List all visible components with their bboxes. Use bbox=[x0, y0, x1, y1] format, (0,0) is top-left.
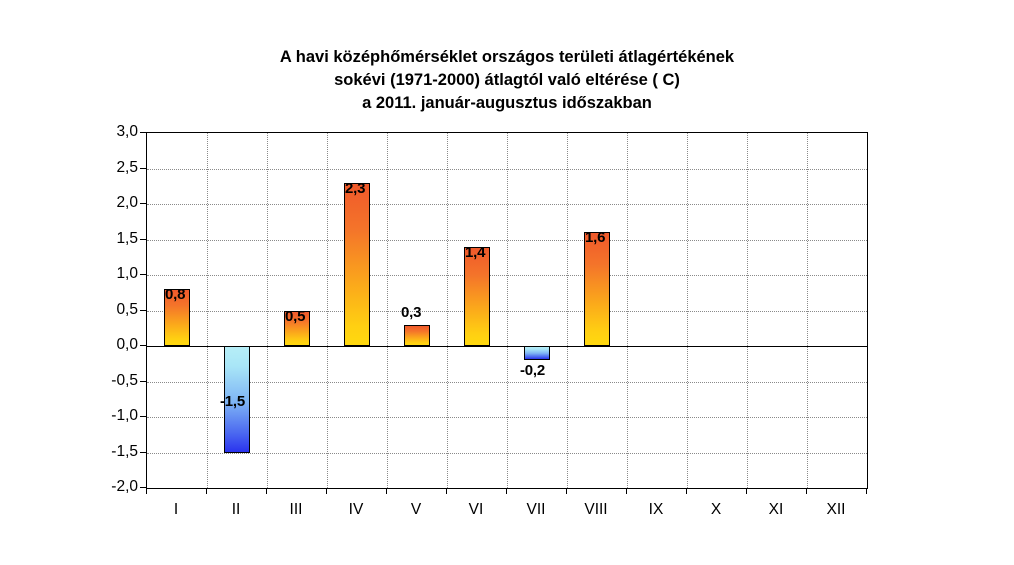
y-axis-tick-label: -1,0 bbox=[84, 408, 138, 424]
y-axis-tick-label: -0,5 bbox=[84, 373, 138, 389]
gridline-vertical bbox=[447, 133, 448, 488]
y-axis-tick-label: -1,5 bbox=[84, 444, 138, 460]
x-axis-tick-label: VIII bbox=[566, 500, 626, 520]
bar-value-label: -1,5 bbox=[220, 393, 245, 410]
gridline-vertical bbox=[327, 133, 328, 488]
y-axis-tick-label: 3,0 bbox=[84, 124, 138, 140]
chart-title-line-2: sokévi (1971-2000) átlagtól való eltérés… bbox=[0, 69, 1014, 92]
y-axis-tick-label: 2,5 bbox=[84, 160, 138, 176]
plot-area: 0,8-1,50,52,30,31,4-0,21,6 bbox=[146, 132, 868, 489]
bar[interactable] bbox=[404, 325, 430, 346]
bar[interactable] bbox=[344, 183, 370, 346]
gridline-vertical bbox=[747, 133, 748, 488]
x-axis-tick-label: V bbox=[386, 500, 446, 520]
x-axis-tick-mark bbox=[326, 488, 327, 494]
chart-title: A havi középhőmérséklet országos terület… bbox=[0, 46, 1014, 115]
y-axis-tick-label: 1,5 bbox=[84, 231, 138, 247]
gridline-vertical bbox=[567, 133, 568, 488]
bar-value-label: 2,3 bbox=[345, 180, 365, 197]
gridline-vertical bbox=[387, 133, 388, 488]
x-axis-tick-label: III bbox=[266, 500, 326, 520]
x-axis-tick-mark bbox=[626, 488, 627, 494]
bar-value-label: 0,3 bbox=[401, 304, 421, 321]
zero-baseline bbox=[147, 346, 867, 347]
y-axis-tick-label: 0,5 bbox=[84, 302, 138, 318]
gridline-vertical bbox=[267, 133, 268, 488]
x-axis-tick-label: VI bbox=[446, 500, 506, 520]
x-axis-tick-mark bbox=[386, 488, 387, 494]
bar-value-label: 1,4 bbox=[465, 244, 485, 261]
x-axis-tick-mark bbox=[206, 488, 207, 494]
gridline-vertical bbox=[207, 133, 208, 488]
bar[interactable] bbox=[524, 346, 550, 360]
y-axis-tick-labels: 3,02,52,01,51,00,50,0-0,5-1,0-1,5-2,0 bbox=[80, 0, 138, 565]
x-axis-tick-label: IV bbox=[326, 500, 386, 520]
y-axis-tick-label: -2,0 bbox=[84, 479, 138, 495]
x-axis-tick-label: I bbox=[146, 500, 206, 520]
gridline-vertical bbox=[507, 133, 508, 488]
gridline-vertical bbox=[687, 133, 688, 488]
bar-value-label: 0,8 bbox=[165, 286, 185, 303]
x-axis-tick-mark bbox=[866, 488, 867, 494]
y-axis-tick-label: 2,0 bbox=[84, 195, 138, 211]
x-axis-tick-label: XI bbox=[746, 500, 806, 520]
bar[interactable] bbox=[584, 232, 610, 346]
x-axis-tick-mark bbox=[266, 488, 267, 494]
x-axis-tick-label: II bbox=[206, 500, 266, 520]
bar-value-label: 1,6 bbox=[585, 229, 605, 246]
x-axis-tick-mark bbox=[746, 488, 747, 494]
y-axis-tick-label: 1,0 bbox=[84, 266, 138, 282]
chart-title-line-1: A havi középhőmérséklet országos terület… bbox=[0, 46, 1014, 69]
x-axis-tick-label: X bbox=[686, 500, 746, 520]
y-axis-tick-label: 0,0 bbox=[84, 337, 138, 353]
x-axis-tick-mark bbox=[446, 488, 447, 494]
x-axis-tick-mark bbox=[686, 488, 687, 494]
chart-title-line-3: a 2011. január-augusztus időszakban bbox=[0, 92, 1014, 115]
x-axis-tick-mark bbox=[146, 488, 147, 494]
x-axis-tick-mark bbox=[566, 488, 567, 494]
gridline-vertical bbox=[627, 133, 628, 488]
bar-value-label: 0,5 bbox=[285, 308, 305, 325]
bar[interactable] bbox=[464, 247, 490, 346]
bar-value-label: -0,2 bbox=[520, 362, 545, 379]
x-axis-tick-label: XII bbox=[806, 500, 866, 520]
x-axis-tick-labels: IIIIIIIVVVIVIIVIIIIXXXIXII bbox=[146, 500, 866, 524]
x-axis-tick-label: VII bbox=[506, 500, 566, 520]
x-axis-tick-mark bbox=[806, 488, 807, 494]
x-axis-tick-label: IX bbox=[626, 500, 686, 520]
gridline-vertical bbox=[807, 133, 808, 488]
x-axis-tick-mark bbox=[506, 488, 507, 494]
